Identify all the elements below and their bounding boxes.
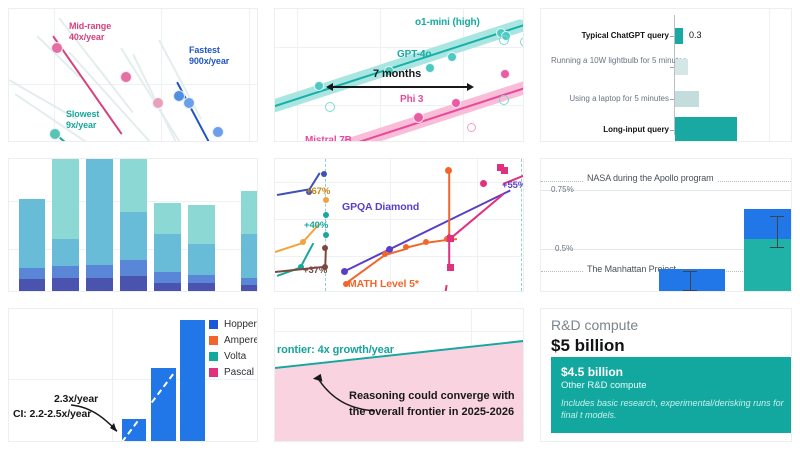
legend-label: Ampere bbox=[224, 335, 258, 346]
gridline-v bbox=[477, 159, 478, 291]
math-segment bbox=[448, 168, 450, 236]
data-marker bbox=[447, 235, 454, 242]
panel-stacked-compute bbox=[0, 150, 266, 300]
data-point-hollow bbox=[520, 37, 524, 47]
rnd-compute-block[interactable]: $4.5 billion Other R&D compute Includes … bbox=[551, 357, 792, 433]
gridline-v bbox=[249, 9, 250, 141]
stack-segment bbox=[188, 283, 215, 291]
data-point bbox=[447, 52, 457, 62]
legend-item[interactable]: Hopper bbox=[209, 319, 258, 330]
error-bar-cap bbox=[770, 216, 784, 217]
stack-segment bbox=[86, 265, 113, 278]
block-category: Other R&D compute bbox=[561, 380, 789, 392]
legend-item[interactable]: Pascal bbox=[209, 367, 258, 378]
panel-rnd-share: 0.75% 0.5% NASA during the Apollo progra… bbox=[532, 150, 800, 300]
label-mistral7b: Mistral 7B bbox=[305, 135, 352, 142]
data-marker bbox=[322, 245, 328, 251]
card-title: R&D compute bbox=[551, 317, 638, 334]
data-point bbox=[425, 63, 435, 73]
gridline-v bbox=[463, 9, 464, 141]
growth-rates-canvas: Mid-range 40x/year Fastest 900x/year Slo… bbox=[8, 8, 258, 142]
panel-growth-rates: Mid-range 40x/year Fastest 900x/year Slo… bbox=[0, 0, 266, 150]
gridline-h bbox=[275, 256, 523, 257]
frontier-growth-label: rontier: 4x growth/year bbox=[277, 345, 394, 356]
stack-segment bbox=[241, 191, 258, 234]
gridline-h bbox=[541, 190, 791, 191]
stack-segment bbox=[52, 278, 79, 291]
gpu-growth-ci: CI: 2.2-2.5x/year bbox=[13, 409, 91, 420]
stacked-bar bbox=[188, 205, 215, 291]
label-pct-37: +37% bbox=[303, 265, 327, 276]
stack-segment bbox=[154, 283, 181, 291]
gridline-v bbox=[161, 9, 162, 141]
data-marker bbox=[423, 239, 429, 245]
rnd-compute-card-canvas: R&D compute $5 billion $4.5 billion Othe… bbox=[540, 308, 792, 442]
dashboard-grid: Mid-range 40x/year Fastest 900x/year Slo… bbox=[0, 0, 800, 450]
stacked-bar bbox=[241, 191, 258, 291]
error-bar-cap bbox=[683, 271, 697, 272]
data-point bbox=[51, 42, 63, 54]
label-gpt4o: GPT-4o bbox=[397, 49, 431, 60]
legend-item[interactable]: Volta bbox=[209, 351, 258, 362]
benchmark-jumps-canvas: +67% +40% +37% +55% GPQA Diamond MATH Le… bbox=[274, 158, 524, 292]
data-marker bbox=[323, 232, 329, 238]
row-tick bbox=[670, 99, 674, 100]
ytick-05: 0.5% bbox=[555, 244, 573, 253]
stack-segment bbox=[241, 278, 258, 285]
midrange-title: Mid-range bbox=[69, 21, 111, 31]
label-math: MATH Level 5* bbox=[348, 279, 419, 290]
stack-segment bbox=[52, 266, 79, 278]
data-point bbox=[451, 98, 461, 108]
gap-arrow-head-left bbox=[326, 83, 333, 91]
rnd-share-canvas: 0.75% 0.5% NASA during the Apollo progra… bbox=[540, 158, 792, 292]
stacked-bar bbox=[154, 203, 181, 291]
block-amount: $4.5 billion bbox=[561, 365, 789, 380]
label-o1mini: o1-mini (high) bbox=[415, 17, 480, 28]
stack-segment bbox=[188, 275, 215, 283]
gridline-v bbox=[769, 9, 770, 141]
data-marker bbox=[341, 268, 348, 275]
row-tick bbox=[670, 36, 674, 37]
data-point-hollow bbox=[499, 35, 509, 45]
convergence-note-line2: the overall frontier in 2025-2026 bbox=[349, 405, 514, 419]
stack-segment bbox=[19, 199, 45, 268]
data-point bbox=[500, 69, 510, 79]
legend-swatch-icon bbox=[209, 368, 218, 377]
ytick-075: 0.75% bbox=[551, 185, 574, 194]
stack-segment bbox=[52, 159, 79, 239]
energy-row-label: Using a laptop for 5 minutes bbox=[545, 94, 669, 104]
gridline-h bbox=[275, 47, 523, 48]
label-pct-55: +55% bbox=[502, 180, 524, 191]
panel-model-lag: o1-mini (high) GPT-4o 7 months Phi 3 Mis… bbox=[266, 0, 532, 150]
label-pct-67: +67% bbox=[306, 186, 330, 197]
data-marker bbox=[445, 167, 452, 174]
gap-arrow-head-right bbox=[467, 83, 474, 91]
legend-swatch-icon bbox=[209, 320, 218, 329]
data-marker bbox=[403, 244, 409, 250]
data-marker bbox=[501, 167, 508, 174]
stack-segment bbox=[241, 285, 258, 291]
gpu-bar bbox=[180, 320, 205, 441]
frontier-convergence-canvas: rontier: 4x growth/year Reasoning could … bbox=[274, 308, 524, 442]
legend-item[interactable]: Ampere bbox=[209, 335, 258, 346]
card-header: R&D compute $5 billion bbox=[551, 317, 638, 356]
label-pct-40: +40% bbox=[304, 220, 328, 231]
row-tick bbox=[670, 67, 674, 68]
dashed-divider bbox=[521, 159, 522, 291]
gridline-h bbox=[9, 84, 257, 85]
energy-bar bbox=[675, 28, 683, 44]
slowest-value: 9x/year bbox=[66, 120, 96, 130]
model-lag-canvas: o1-mini (high) GPT-4o 7 months Phi 3 Mis… bbox=[274, 8, 524, 142]
legend-swatch-icon bbox=[209, 352, 218, 361]
energy-bar bbox=[675, 117, 737, 142]
error-bar bbox=[770, 216, 784, 248]
stack-segment bbox=[154, 272, 181, 283]
stacked-bar bbox=[86, 159, 113, 291]
data-point-hollow bbox=[467, 123, 476, 132]
legend-label: Volta bbox=[224, 351, 246, 362]
panel-energy-compare: Typical ChatGPT query 0.3 Running a 10W … bbox=[532, 0, 800, 150]
stack-segment bbox=[120, 159, 147, 212]
slowest-title: Slowest bbox=[66, 109, 99, 119]
fastest-title: Fastest bbox=[189, 45, 220, 55]
card-total: $5 billion bbox=[551, 335, 638, 356]
data-point bbox=[49, 128, 61, 140]
data-marker bbox=[323, 197, 329, 203]
rnd-bar-ai-lower bbox=[744, 239, 792, 291]
stack-segment bbox=[86, 159, 113, 265]
energy-compare-canvas: Typical ChatGPT query 0.3 Running a 10W … bbox=[540, 8, 792, 142]
panel-gpu-growth: 2.3x/year CI: 2.2-2.5x/year Hopper Amper… bbox=[0, 300, 266, 450]
legend-label: Hopper bbox=[224, 319, 257, 330]
gpu-legend: Hopper Ampere Volta Pascal bbox=[209, 319, 258, 383]
stack-segment bbox=[241, 234, 258, 278]
row-tick bbox=[670, 130, 674, 131]
series-segment bbox=[275, 242, 302, 252]
stack-segment bbox=[52, 239, 79, 266]
data-marker bbox=[300, 239, 306, 245]
stack-segment bbox=[19, 279, 45, 291]
gpu-growth-rate: 2.3x/year bbox=[54, 394, 98, 405]
fastest-value: 900x/year bbox=[189, 56, 229, 66]
data-point bbox=[413, 112, 424, 123]
data-point bbox=[120, 71, 132, 83]
stacked-compute-canvas bbox=[8, 158, 258, 292]
stack-segment bbox=[120, 260, 147, 276]
data-point bbox=[183, 97, 195, 109]
stack-segment bbox=[154, 203, 181, 234]
stack-segment bbox=[19, 268, 45, 279]
energy-bar bbox=[675, 59, 688, 75]
stack-segment bbox=[86, 278, 113, 291]
energy-row-label: Typical ChatGPT query bbox=[551, 31, 669, 41]
gridline-v bbox=[390, 159, 391, 291]
gap-arrow-line bbox=[332, 86, 468, 88]
label-gap-months: 7 months bbox=[373, 69, 421, 80]
error-bar-line bbox=[777, 216, 778, 248]
error-bar-line bbox=[690, 271, 691, 291]
label-gpqa: GPQA Diamond bbox=[342, 202, 419, 213]
block-note: Includes basic research, experimental/de… bbox=[561, 397, 789, 421]
stack-segment bbox=[120, 276, 147, 291]
data-point bbox=[212, 126, 224, 138]
gridline-v bbox=[297, 9, 298, 141]
gpu-growth-canvas: 2.3x/year CI: 2.2-2.5x/year Hopper Amper… bbox=[8, 308, 258, 442]
legend-swatch-icon bbox=[209, 336, 218, 345]
data-marker bbox=[480, 180, 487, 187]
panel-rnd-compute-card: R&D compute $5 billion $4.5 billion Othe… bbox=[532, 300, 800, 450]
stack-segment bbox=[120, 212, 147, 260]
data-marker bbox=[447, 264, 454, 271]
legend-label: Pascal bbox=[224, 367, 254, 378]
label-nasa: NASA during the Apollo program bbox=[584, 173, 717, 184]
data-marker bbox=[323, 212, 329, 218]
error-bar-cap bbox=[683, 290, 697, 291]
data-point-hollow bbox=[325, 102, 335, 112]
error-bar-cap bbox=[770, 247, 784, 248]
convergence-note-line1: Reasoning could converge with bbox=[349, 389, 515, 403]
data-marker bbox=[321, 171, 327, 177]
series-segment bbox=[442, 285, 447, 292]
stacked-bar bbox=[120, 159, 147, 291]
energy-row-label: Long-input query bbox=[551, 125, 669, 135]
data-point bbox=[314, 81, 324, 91]
label-phi3: Phi 3 bbox=[400, 94, 423, 105]
midrange-value: 40x/year bbox=[69, 32, 104, 42]
gpu-bar bbox=[151, 368, 176, 441]
energy-bar bbox=[675, 91, 699, 107]
stack-segment bbox=[154, 234, 181, 272]
error-bar bbox=[683, 271, 697, 291]
stack-segment bbox=[188, 205, 215, 244]
energy-row-label: Running a 10W lightbulb for 5 minutes bbox=[551, 56, 669, 66]
data-marker bbox=[382, 251, 388, 257]
data-point-hollow bbox=[499, 95, 509, 105]
panel-frontier-convergence: rontier: 4x growth/year Reasoning could … bbox=[266, 300, 532, 450]
stack-segment bbox=[188, 244, 215, 275]
stacked-bar bbox=[52, 159, 79, 291]
data-point bbox=[152, 97, 164, 109]
stacked-bar bbox=[19, 199, 45, 291]
energy-row-value: 0.3 bbox=[689, 30, 702, 40]
rnd-bar-ai-upper bbox=[744, 209, 792, 239]
panel-benchmark-jumps: +67% +40% +37% +55% GPQA Diamond MATH Le… bbox=[266, 150, 532, 300]
